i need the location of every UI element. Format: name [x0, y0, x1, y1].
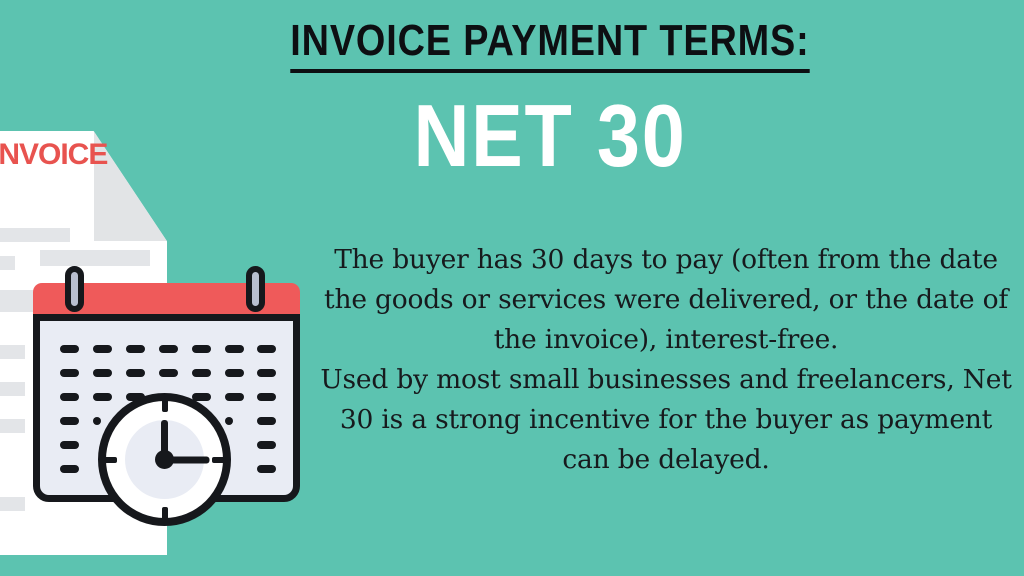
- clock-icon: [98, 393, 231, 526]
- calendar-day-dash: [257, 417, 276, 425]
- calendar-day-dash: [93, 369, 112, 377]
- clock-tick-6: [162, 507, 168, 522]
- calendar-day-dash: [126, 345, 145, 353]
- calendar-day-dash: [60, 441, 79, 449]
- calendar-day-dash: [257, 345, 276, 353]
- calendar-ring-right: [246, 266, 265, 312]
- headline-container: INVOICE PAYMENT TERMS:: [180, 16, 920, 73]
- clock-center-pin: [155, 450, 174, 469]
- calendar-day-dash: [192, 345, 211, 353]
- infographic-canvas: INVOICE: [0, 0, 1024, 576]
- clock-tick-3: [212, 457, 227, 463]
- calendar-day-dash: [257, 465, 276, 473]
- calendar-day-dash: [225, 345, 244, 353]
- calendar-day-dash: [159, 345, 178, 353]
- calendar-ring-left: [65, 266, 84, 312]
- description-text: The buyer has 30 days to pay (often from…: [313, 240, 1019, 480]
- calendar-day-dash: [60, 369, 79, 377]
- invoice-label-text: INVOICE: [0, 138, 107, 172]
- calendar-day-dash: [257, 393, 276, 401]
- calendar-day-dash: [60, 417, 79, 425]
- calendar-day-dash: [192, 369, 211, 377]
- description-paragraph-1: The buyer has 30 days to pay (often from…: [313, 240, 1019, 360]
- calendar-day-dash: [60, 393, 79, 401]
- calendar-day-dash: [257, 441, 276, 449]
- invoice-calendar-illustration: INVOICE: [0, 0, 330, 576]
- clock-tick-9: [102, 457, 117, 463]
- description-paragraph-2: Used by most small businesses and freela…: [313, 360, 1019, 480]
- page-title: INVOICE PAYMENT TERMS:: [290, 16, 809, 73]
- payment-term-value: NET 30: [224, 88, 875, 184]
- calendar-day-dash: [159, 369, 178, 377]
- calendar-day-dash: [225, 369, 244, 377]
- calendar-day-dash: [126, 369, 145, 377]
- clock-tick-12: [162, 397, 168, 412]
- calendar-day-dash: [93, 345, 112, 353]
- calendar-day-dash: [60, 345, 79, 353]
- calendar-day-dash: [60, 465, 79, 473]
- calendar-day-dash: [257, 369, 276, 377]
